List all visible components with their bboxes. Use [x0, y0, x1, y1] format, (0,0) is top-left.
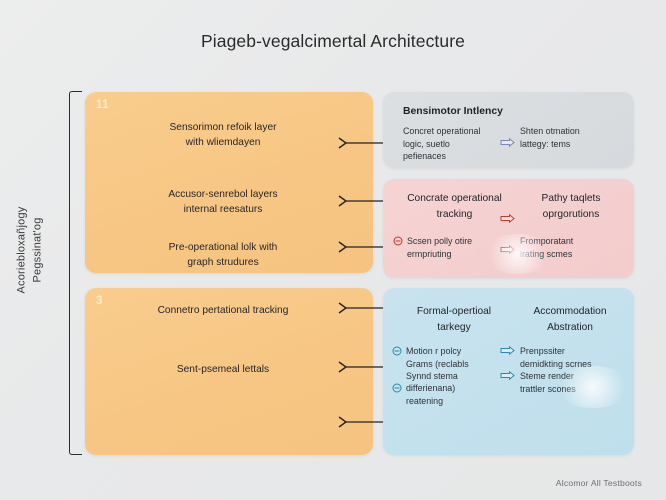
panel-pink-left-header-line-1: Concrate operational — [397, 191, 512, 207]
panel-pink-left-header-line-2: tracking — [397, 207, 512, 223]
panel-blue-left-header: Formal-opertioal tarkegy — [395, 304, 513, 336]
stage-1-row-3: Pre-operational lolk with graph strudure… — [119, 240, 327, 270]
stage-2-row-1: Connetro pertational tracking — [119, 303, 327, 318]
panel-pink-left-item-1: Scsen polly otire ermpriuting — [407, 235, 507, 260]
circle-slash-icon — [393, 236, 403, 246]
panel-blue-right-item-2-line-1: Steme render — [520, 370, 628, 383]
panel-blue-left-item-2: differienana) reatening — [406, 382, 511, 407]
panel-blue-right-header-line-2: Abstration — [514, 320, 626, 336]
connector-1 — [337, 136, 383, 150]
stage-1-row-1-line-2: with wliemdayen — [119, 135, 327, 150]
panel-blue-left-item-1-line-1: Motion r polcy — [406, 345, 511, 358]
panel-blue-left-item-2-line-2: reatening — [406, 395, 511, 408]
arrow-right-outline-icon — [500, 245, 515, 254]
panel-blue-right-header-line-1: Accommodation — [514, 304, 626, 320]
panel-blue-left-item-2-line-1: differienana) — [406, 382, 511, 395]
stage-1-row-2: Accusor-senrebol layers internal reesatu… — [119, 187, 327, 217]
panel-pink-right-item-1-line-2: irating scmes — [520, 248, 625, 261]
stage-1-row-2-line-2: internal reesaturs — [119, 202, 327, 217]
circle-slash-icon — [392, 346, 402, 356]
panel-pink-right-header-line-2: oprgorutions — [516, 207, 626, 223]
arrow-right-outline-icon — [500, 138, 515, 147]
panel-blue-left-item-1-line-2: Grams (reclabls — [406, 358, 511, 371]
panel-gray-left-item-1-line-3: pefienaces — [403, 150, 508, 163]
connector-3 — [337, 240, 383, 254]
stage-2-row-2-line-1: Sent-psemeal lettals — [119, 362, 327, 377]
panel-blue-left-header-line-2: tarkegy — [395, 320, 513, 336]
stage-1-row-2-line-1: Accusor-senrebol layers — [119, 187, 327, 202]
panel-gray-right-item-1: Shten otmation lattegy: tems — [520, 125, 625, 150]
panel-blue-right-item-2-line-2: trattler scones — [520, 383, 628, 396]
arrow-right-outline-icon — [500, 214, 515, 223]
panel-gray[interactable]: Bensimotor Intlency Concret operational … — [383, 92, 634, 168]
panel-pink-right-item-1: Fromporatant irating scmes — [520, 235, 625, 260]
stage-badge-2: 3 — [96, 295, 103, 307]
connector-5 — [337, 360, 383, 374]
panel-pink-left-header: Concrate operational tracking — [397, 191, 512, 223]
stage-card-1[interactable]: 11 Sensorimon refoik layer with wliemday… — [85, 92, 373, 273]
panel-blue-right-item-1-line-2: demidkting scrnes — [520, 358, 628, 371]
panel-gray-header: Bensimotor Intlency — [403, 106, 503, 117]
panel-gray-left-item-1: Concret operational logic, suetlo pefien… — [403, 125, 508, 163]
panel-pink-left-item-1-line-2: ermpriuting — [407, 248, 507, 261]
stage-2-row-2: Sent-psemeal lettals — [119, 362, 327, 377]
connector-6 — [337, 415, 383, 429]
connector-2 — [337, 194, 383, 208]
panel-pink-right-item-1-line-1: Fromporatant — [520, 235, 625, 248]
panel-pink-right-header: Pathy taqlets oprgorutions — [516, 191, 626, 223]
panel-blue-left-header-line-1: Formal-opertioal — [395, 304, 513, 320]
panel-blue-right-item-1: Prenpssiter demidkting scrnes — [520, 345, 628, 370]
panel-pink-left-item-1-line-1: Scsen polly otire — [407, 235, 507, 248]
circle-slash-icon — [392, 383, 402, 393]
panel-blue-right-item-1-line-1: Prenpssiter — [520, 345, 628, 358]
panel-pink-right-header-line-1: Pathy taqlets — [516, 191, 626, 207]
panel-gray-right-item-1-line-1: Shten otmation — [520, 125, 625, 138]
panel-blue-right-item-2: Steme render trattler scones — [520, 370, 628, 395]
panel-pink[interactable]: Concrate operational tracking Pathy taql… — [383, 179, 634, 278]
panel-gray-left-item-1-line-2: logic, suetlo — [403, 138, 508, 151]
stage-1-row-1-line-1: Sensorimon refoik layer — [119, 120, 327, 135]
panel-blue-left-item-1: Motion r polcy Grams (reclabls Synnd ste… — [406, 345, 511, 383]
stage-1-row-3-line-1: Pre-operational lolk with — [119, 240, 327, 255]
panel-blue[interactable]: Formal-opertioal tarkegy Accommodation A… — [383, 288, 634, 455]
stage-badge-1: 11 — [96, 99, 109, 111]
panel-gray-left-item-1-line-1: Concret operational — [403, 125, 508, 138]
panel-gray-right-item-1-line-2: lattegy: tems — [520, 138, 625, 151]
stage-1-row-1: Sensorimon refoik layer with wliemdayen — [119, 120, 327, 150]
panel-blue-left-item-1-line-3: Synnd stema — [406, 370, 511, 383]
arrow-right-outline-icon — [500, 346, 515, 355]
panel-blue-right-header: Accommodation Abstration — [514, 304, 626, 336]
stage-card-2[interactable]: 3 Connetro pertational tracking Sent-pse… — [85, 288, 373, 455]
footer-note: Alcomor All Testboots — [556, 478, 642, 488]
arrow-right-outline-icon — [500, 371, 515, 380]
stage-1-row-3-line-2: graph strudures — [119, 255, 327, 270]
connector-4 — [337, 301, 383, 315]
stage-2-row-1-line-1: Connetro pertational tracking — [119, 303, 327, 318]
